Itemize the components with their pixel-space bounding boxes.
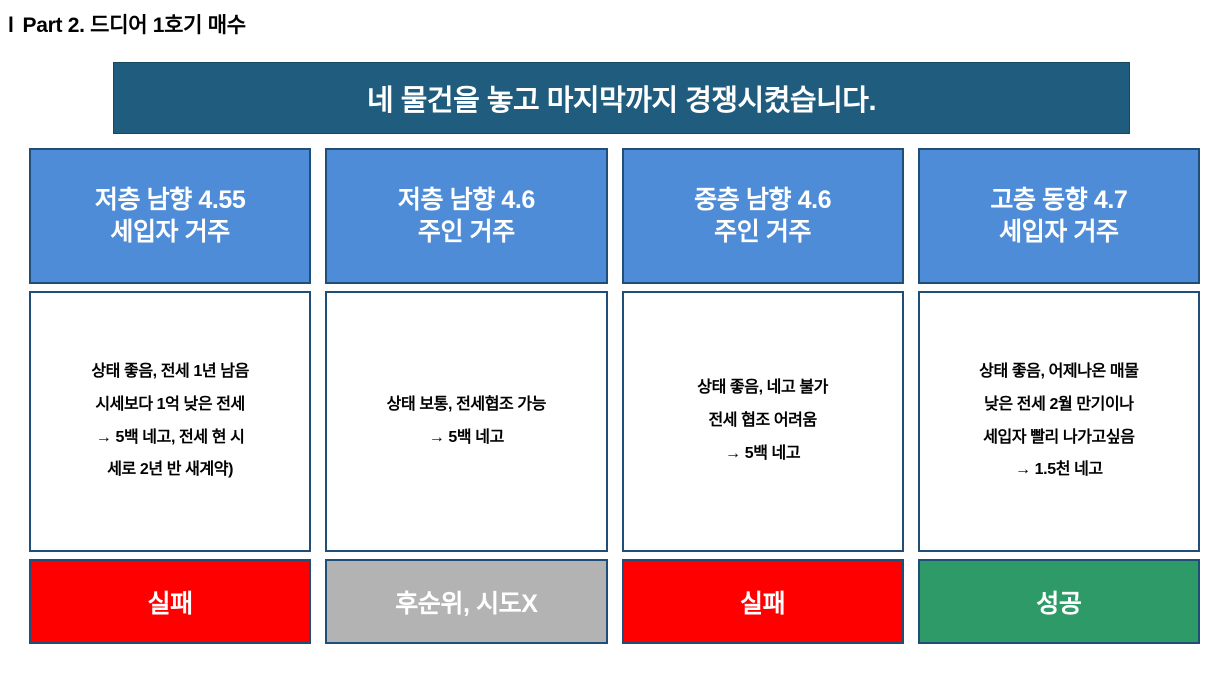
- property-header-3-line1: 중층 남향 4.6: [694, 184, 831, 216]
- property-header-4-line2: 세입자 거주: [990, 216, 1127, 248]
- property-detail-1-line1: 상태 좋음, 전세 1년 남음: [91, 356, 249, 389]
- property-detail-4-line3: 세입자 빨리 나가고싶음: [979, 422, 1138, 455]
- property-detail-4-line4: → 1.5천 네고: [979, 454, 1138, 487]
- property-detail-3: 상태 좋음, 네고 불가 전세 협조 어려움 → 5백 네고: [622, 291, 904, 552]
- bullet-marker-icon: l: [8, 15, 14, 36]
- property-result-2: 후순위, 시도X: [325, 559, 607, 644]
- property-header-2-line1: 저층 남향 4.6: [398, 184, 535, 216]
- property-result-4-label: 성공: [1036, 584, 1081, 620]
- property-header-2-line2: 주인 거주: [398, 216, 535, 248]
- property-detail-2-line1: 상태 보통, 전세협조 가능: [387, 389, 546, 422]
- property-header-4-line1: 고층 동향 4.7: [990, 184, 1127, 216]
- property-column-2: 저층 남향 4.6 주인 거주 상태 보통, 전세협조 가능 → 5백 네고 후…: [325, 148, 607, 644]
- property-detail-3-line1: 상태 좋음, 네고 불가: [697, 372, 828, 405]
- property-detail-1-line3: → 5백 네고, 전세 현 시: [91, 422, 249, 455]
- property-header-1: 저층 남향 4.55 세입자 거주: [29, 148, 311, 284]
- page-title-text: Part 2. 드디어 1호기 매수: [23, 9, 246, 39]
- page-title: l Part 2. 드디어 1호기 매수: [8, 9, 246, 39]
- property-result-3: 실패: [622, 559, 904, 644]
- property-detail-4-line1: 상태 좋음, 어제나온 매물: [979, 356, 1138, 389]
- property-detail-1-line2: 시세보다 1억 낮은 전세: [91, 389, 249, 422]
- property-column-1: 저층 남향 4.55 세입자 거주 상태 좋음, 전세 1년 남음 시세보다 1…: [29, 148, 311, 644]
- property-detail-2-line2: → 5백 네고: [387, 422, 546, 455]
- property-header-3: 중층 남향 4.6 주인 거주: [622, 148, 904, 284]
- property-result-4: 성공: [918, 559, 1200, 644]
- property-header-4: 고층 동향 4.7 세입자 거주: [918, 148, 1200, 284]
- property-result-1-label: 실패: [148, 584, 193, 620]
- property-result-3-label: 실패: [740, 584, 785, 620]
- headline-banner: 네 물건을 놓고 마지막까지 경쟁시켰습니다.: [113, 62, 1130, 134]
- property-detail-2: 상태 보통, 전세협조 가능 → 5백 네고: [325, 291, 607, 552]
- property-detail-1: 상태 좋음, 전세 1년 남음 시세보다 1억 낮은 전세 → 5백 네고, 전…: [29, 291, 311, 552]
- property-header-2: 저층 남향 4.6 주인 거주: [325, 148, 607, 284]
- property-result-2-label: 후순위, 시도X: [395, 584, 537, 620]
- property-column-3: 중층 남향 4.6 주인 거주 상태 좋음, 네고 불가 전세 협조 어려움 →…: [622, 148, 904, 644]
- headline-banner-text: 네 물건을 놓고 마지막까지 경쟁시켰습니다.: [367, 77, 876, 119]
- property-column-4: 고층 동향 4.7 세입자 거주 상태 좋음, 어제나온 매물 낮은 전세 2월…: [918, 148, 1200, 644]
- property-header-3-line2: 주인 거주: [694, 216, 831, 248]
- property-detail-3-line3: → 5백 네고: [697, 438, 828, 471]
- property-result-1: 실패: [29, 559, 311, 644]
- property-detail-3-line2: 전세 협조 어려움: [697, 405, 828, 438]
- property-detail-4-line2: 낮은 전세 2월 만기이나: [979, 389, 1138, 422]
- property-header-1-line2: 세입자 거주: [95, 216, 246, 248]
- property-comparison-table: 저층 남향 4.55 세입자 거주 상태 좋음, 전세 1년 남음 시세보다 1…: [29, 148, 1200, 644]
- property-header-1-line1: 저층 남향 4.55: [95, 184, 246, 216]
- property-detail-1-line4: 세로 2년 반 새계약): [91, 454, 249, 487]
- property-detail-4: 상태 좋음, 어제나온 매물 낮은 전세 2월 만기이나 세입자 빨리 나가고싶…: [918, 291, 1200, 552]
